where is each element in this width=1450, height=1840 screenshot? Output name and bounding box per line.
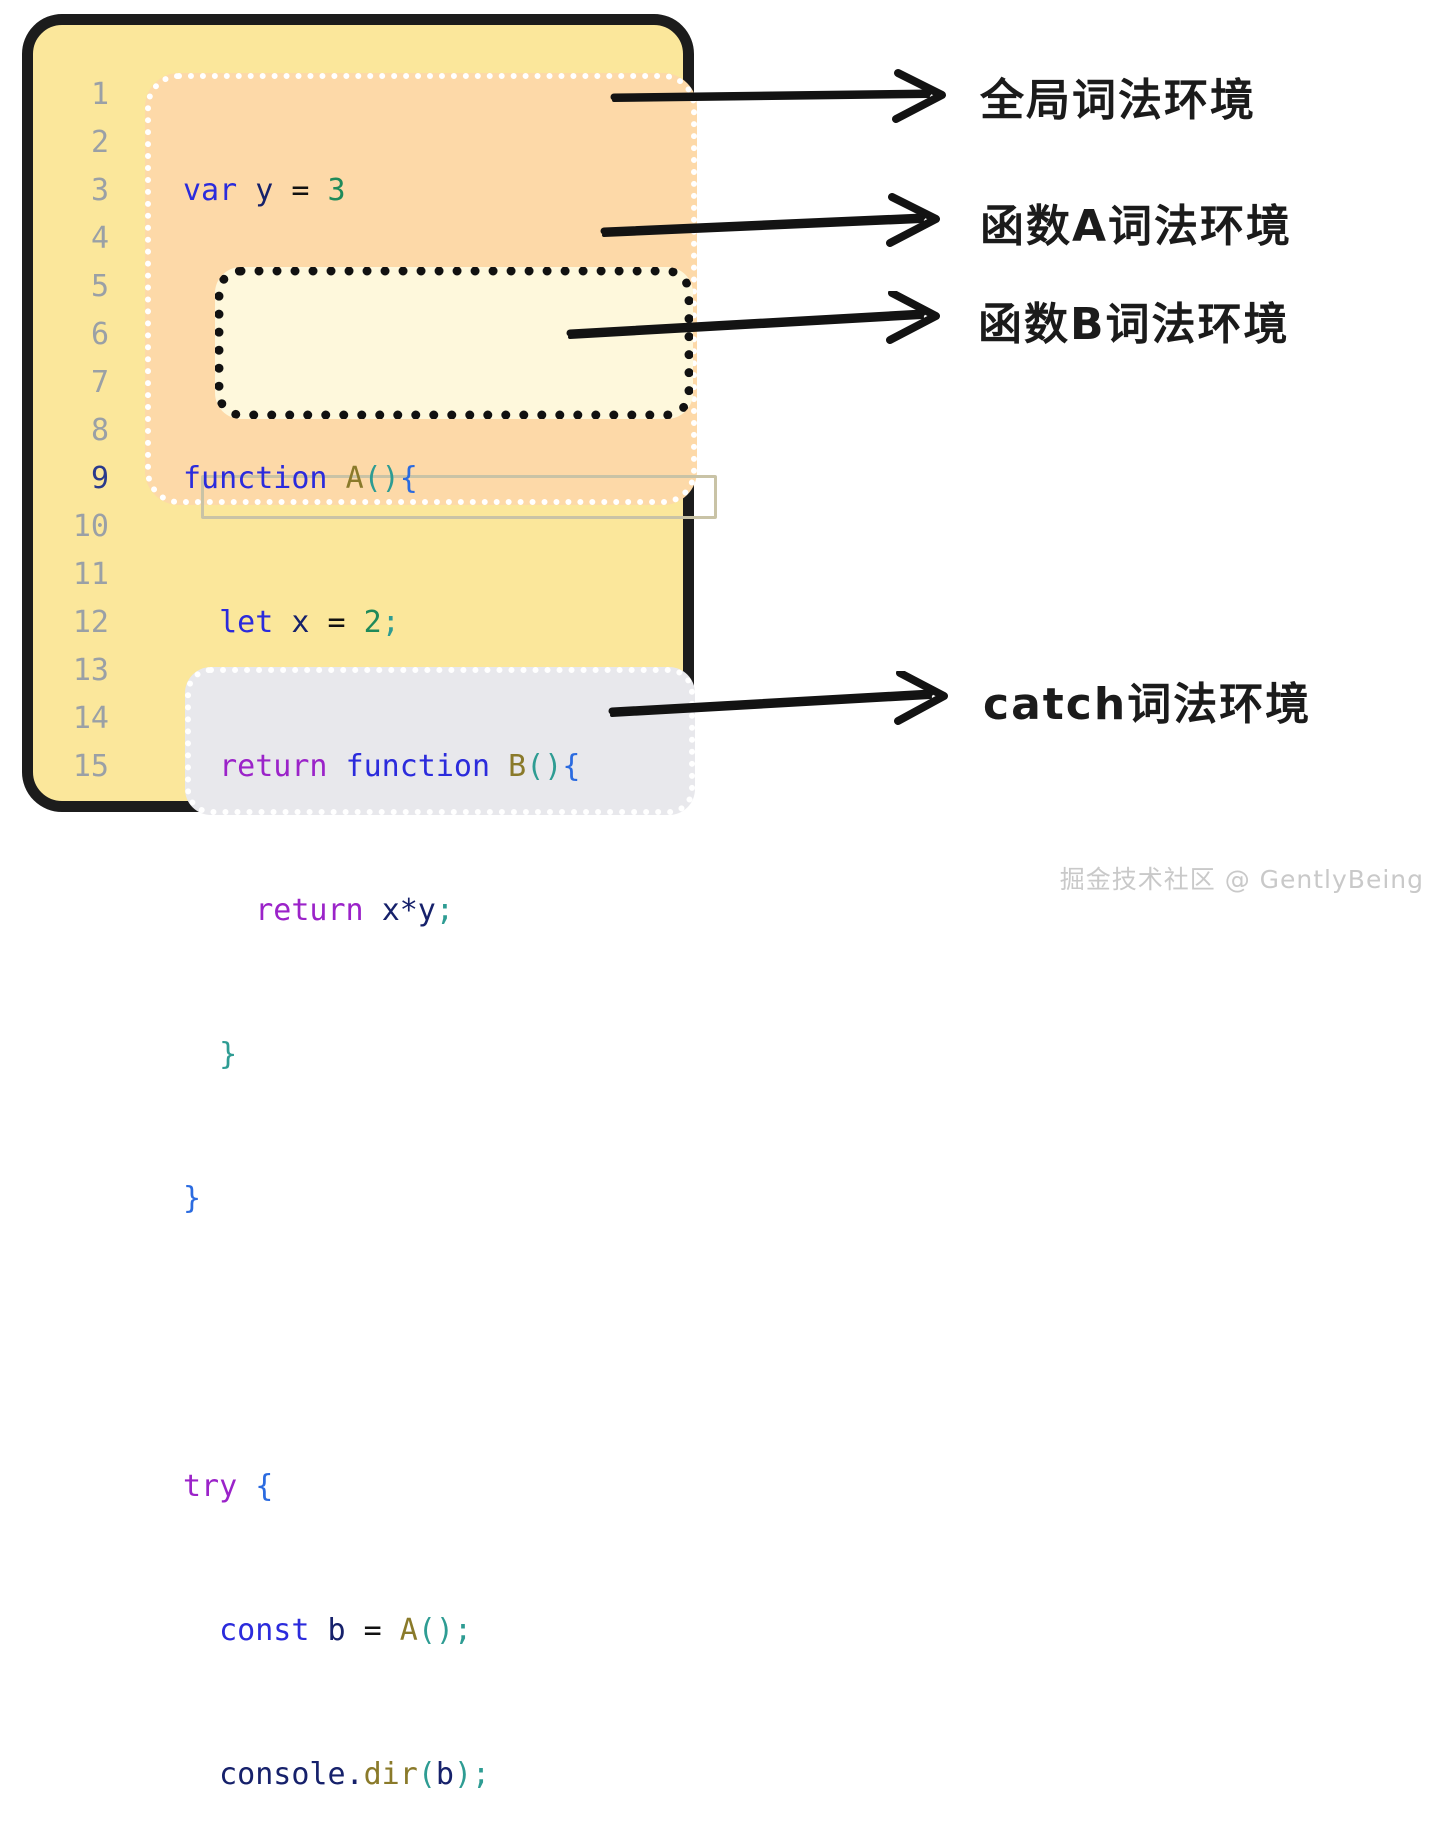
code-token [364, 893, 382, 928]
code-line: var y = 3 [183, 167, 580, 215]
arrow-icon [608, 671, 983, 729]
code-line: console.dir(b); [183, 1751, 580, 1799]
annotation-label: catch词法环境 [983, 668, 1311, 732]
code-token [183, 1037, 219, 1072]
code-area[interactable]: var y = 3 function A(){ let x = 2; retur… [183, 71, 580, 1840]
code-token: = [364, 1613, 382, 1648]
code-token: return [219, 749, 327, 784]
line-number: 11 [33, 551, 121, 599]
code-token [273, 173, 291, 208]
code-token: () [364, 461, 400, 496]
arrow-icon [566, 291, 978, 349]
code-token: dir [364, 1757, 418, 1792]
code-token: A [400, 1613, 418, 1648]
line-number: 15 [33, 743, 121, 791]
code-token: function [183, 461, 328, 496]
code-token [183, 893, 255, 928]
code-line [183, 1319, 580, 1367]
line-number: 12 [33, 599, 121, 647]
annotation-label: 函数B词法环境 [978, 288, 1290, 352]
code-token [237, 173, 255, 208]
code-token [346, 605, 364, 640]
annotation-label: 全局词法环境 [980, 64, 1256, 128]
code-token [309, 1613, 327, 1648]
code-token: } [219, 1037, 237, 1072]
code-token: ; [454, 1613, 472, 1648]
arrow-icon [600, 193, 980, 251]
annotation-function-a: 函数A词法环境 [600, 190, 1292, 254]
code-token: console [219, 1757, 345, 1792]
code-token [490, 749, 508, 784]
code-token: ; [436, 893, 454, 928]
code-token: return [255, 893, 363, 928]
line-number: 8 [33, 407, 121, 455]
line-number-active: 9 [33, 455, 121, 503]
code-line: let x = 2; [183, 599, 580, 647]
code-token: let [219, 605, 273, 640]
code-token: ( [418, 1757, 436, 1792]
code-token [309, 173, 327, 208]
line-number: 7 [33, 359, 121, 407]
code-token: 2 [364, 605, 382, 640]
code-token: ; [472, 1757, 490, 1792]
annotation-catch: catch词法环境 [608, 668, 1311, 732]
code-token: { [562, 749, 580, 784]
code-token [346, 1613, 364, 1648]
code-line: const b = A(); [183, 1607, 580, 1655]
code-token: () [418, 1613, 454, 1648]
watermark: 掘金技术社区 @ GentlyBeing [1060, 860, 1424, 896]
code-line [183, 311, 580, 359]
code-card: 1 2 3 4 5 6 7 8 9 10 11 12 13 14 15 var … [22, 14, 694, 812]
code-token [273, 605, 291, 640]
code-token: b [328, 1613, 346, 1648]
code-line: try { [183, 1463, 580, 1511]
code-line: function A(){ [183, 455, 580, 503]
line-number: 1 [33, 71, 121, 119]
code-token: ; [382, 605, 400, 640]
code-token: try [183, 1469, 237, 1504]
code-token: } [183, 1181, 201, 1216]
code-token [328, 461, 346, 496]
code-token [382, 1613, 400, 1648]
code-token [183, 605, 219, 640]
line-number: 6 [33, 311, 121, 359]
code-token: ) [454, 1757, 472, 1792]
code-token [183, 1757, 219, 1792]
code-token: x [291, 605, 309, 640]
code-token: y [255, 173, 273, 208]
line-number: 2 [33, 119, 121, 167]
code-token: = [328, 605, 346, 640]
code-token: 3 [328, 173, 346, 208]
code-line: } [183, 1175, 580, 1223]
code-token [183, 749, 219, 784]
line-number: 3 [33, 167, 121, 215]
line-number: 14 [33, 695, 121, 743]
code-token [237, 1469, 255, 1504]
code-line: return x*y; [183, 887, 580, 935]
code-token: b [436, 1757, 454, 1792]
line-number: 10 [33, 503, 121, 551]
code-token [309, 605, 327, 640]
code-token: A [346, 461, 364, 496]
code-line: return function B(){ [183, 743, 580, 791]
code-token: B [508, 749, 526, 784]
code-line: } [183, 1031, 580, 1079]
code-token: { [255, 1469, 273, 1504]
code-token: . [346, 1757, 364, 1792]
line-number: 13 [33, 647, 121, 695]
code-token [328, 749, 346, 784]
line-number-gutter: 1 2 3 4 5 6 7 8 9 10 11 12 13 14 15 [33, 71, 121, 791]
annotation-global: 全局词法环境 [610, 64, 1256, 128]
code-token: = [291, 173, 309, 208]
code-token: x*y [382, 893, 436, 928]
line-number: 5 [33, 263, 121, 311]
code-token: function [346, 749, 491, 784]
code-token: { [400, 461, 418, 496]
annotation-label: 函数A词法环境 [980, 190, 1292, 254]
code-token [183, 1613, 219, 1648]
code-token: var [183, 173, 237, 208]
code-token: () [526, 749, 562, 784]
arrow-icon [610, 67, 980, 125]
code-token: const [219, 1613, 309, 1648]
annotation-function-b: 函数B词法环境 [566, 288, 1290, 352]
line-number: 4 [33, 215, 121, 263]
